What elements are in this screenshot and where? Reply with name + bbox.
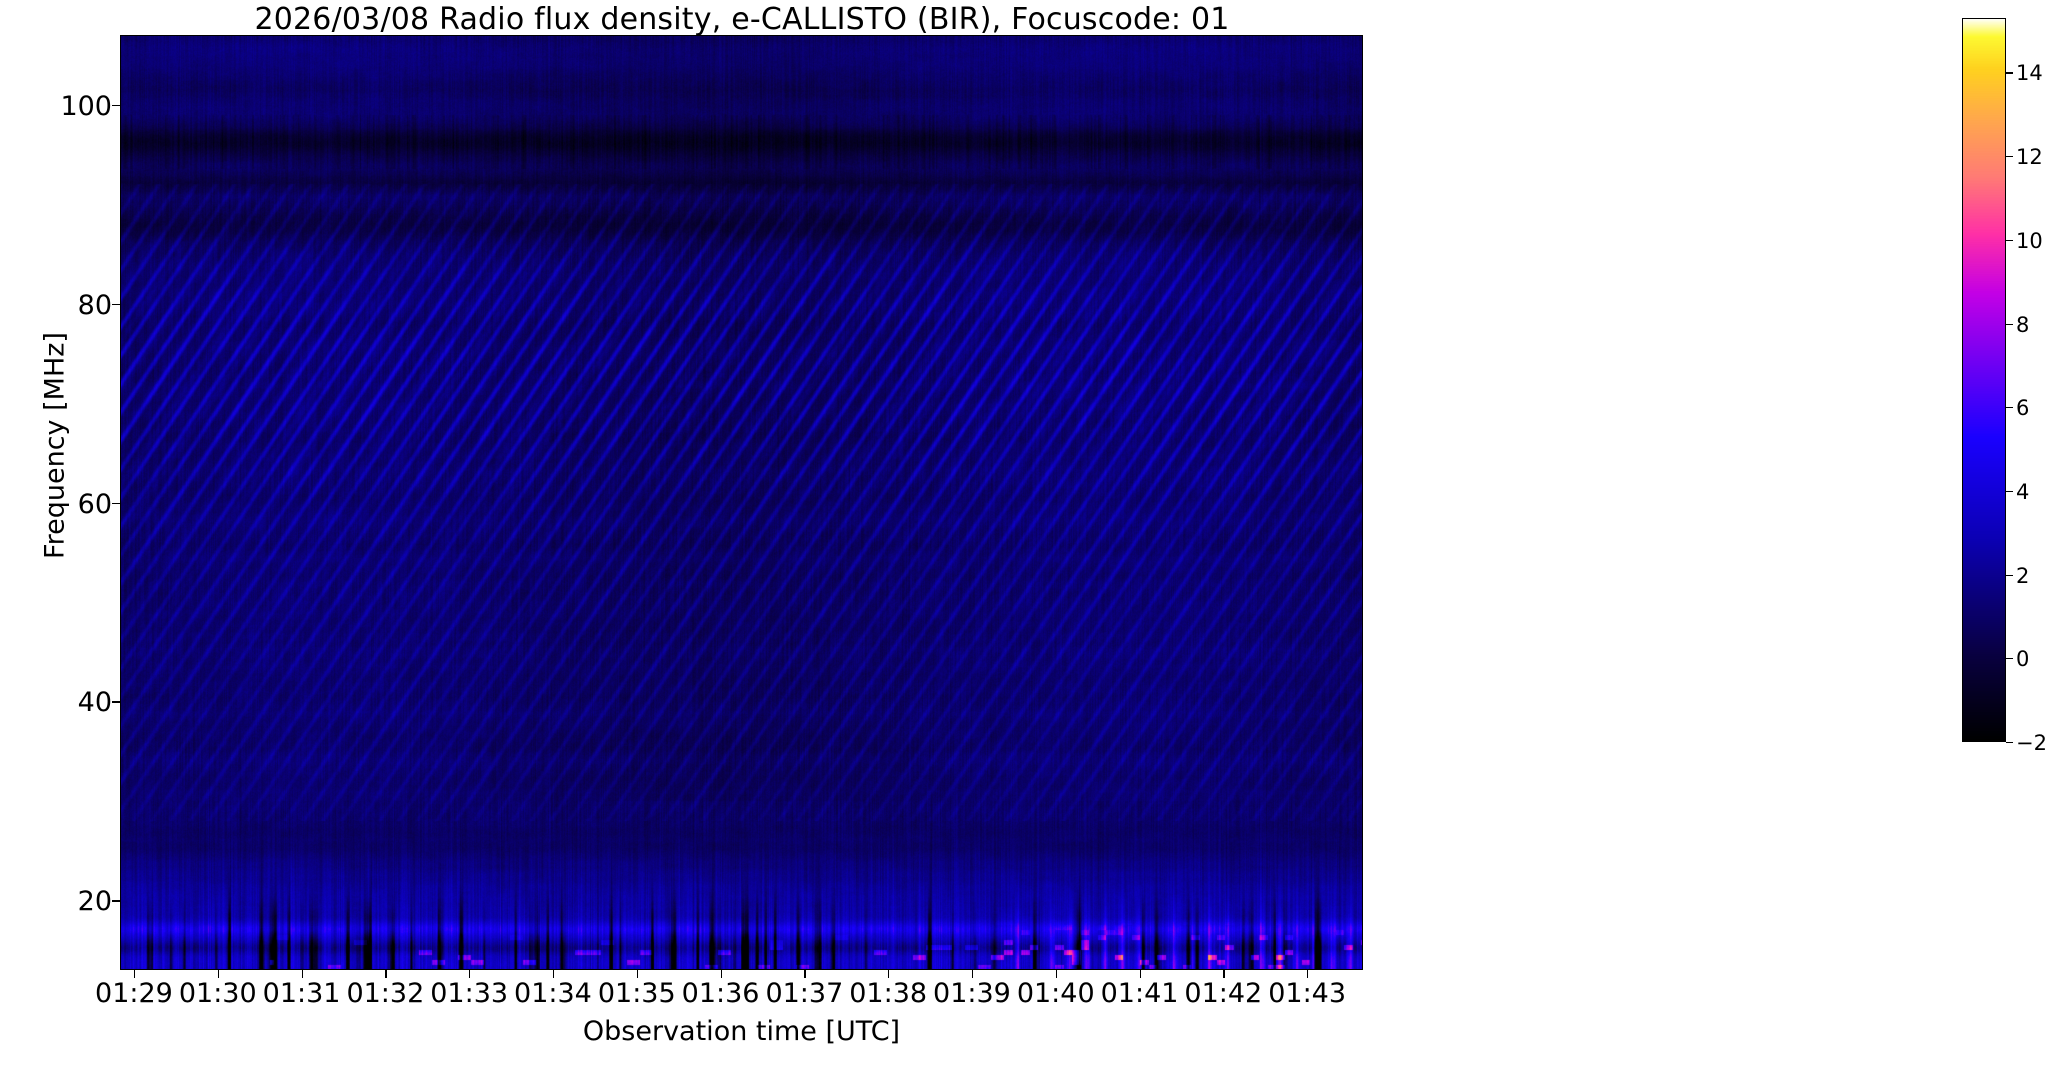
x-tick-label: 01:33 <box>430 978 508 1009</box>
x-axis-ticks: 01:2901:3001:3101:3201:3301:3401:3501:36… <box>0 0 2066 1067</box>
x-tick-mark <box>553 970 554 978</box>
x-tick-mark <box>134 970 135 978</box>
colorbar-tick-label: 10 <box>2016 229 2043 253</box>
colorbar-tick-label: 0 <box>2016 647 2029 671</box>
colorbar-tick-mark <box>2006 658 2013 659</box>
colorbar-tick-mark <box>2006 407 2013 408</box>
colorbar-tick-label: 2 <box>2016 564 2029 588</box>
x-tick-mark <box>721 970 722 978</box>
x-tick-mark <box>888 970 889 978</box>
x-tick-mark <box>637 970 638 978</box>
colorbar-tick-mark <box>2006 240 2013 241</box>
x-tick-mark <box>385 970 386 978</box>
x-tick-label: 01:42 <box>1184 978 1262 1009</box>
colorbar-tick-mark <box>2006 575 2013 576</box>
x-tick-label: 01:43 <box>1268 978 1346 1009</box>
x-tick-mark <box>218 970 219 978</box>
x-tick-label: 01:39 <box>933 978 1011 1009</box>
x-tick-mark <box>1140 970 1141 978</box>
colorbar-gradient <box>1962 18 2006 742</box>
x-tick-mark <box>302 970 303 978</box>
colorbar-tick-mark <box>2006 491 2013 492</box>
x-tick-mark <box>804 970 805 978</box>
figure-root: 2026/03/08 Radio flux density, e-CALLIST… <box>0 0 2066 1067</box>
colorbar-tick-mark <box>2006 742 2013 743</box>
colorbar-tick-label: 8 <box>2016 313 2029 337</box>
colorbar-tick-mark <box>2006 72 2013 73</box>
x-tick-label: 01:41 <box>1101 978 1179 1009</box>
x-tick-mark <box>1056 970 1057 978</box>
x-tick-label: 01:31 <box>263 978 341 1009</box>
x-tick-label: 01:37 <box>765 978 843 1009</box>
x-tick-mark <box>972 970 973 978</box>
x-tick-label: 01:38 <box>849 978 927 1009</box>
x-tick-label: 01:35 <box>598 978 676 1009</box>
colorbar-tick-label: 4 <box>2016 480 2029 504</box>
colorbar-tick-label: 14 <box>2016 61 2043 85</box>
x-tick-label: 01:36 <box>682 978 760 1009</box>
x-tick-mark <box>1307 970 1308 978</box>
x-tick-label: 01:32 <box>346 978 424 1009</box>
x-tick-label: 01:29 <box>95 978 173 1009</box>
colorbar-tick-label: −2 <box>2016 731 2047 755</box>
colorbar-tick-label: 6 <box>2016 396 2029 420</box>
x-tick-mark <box>469 970 470 978</box>
x-tick-label: 01:40 <box>1017 978 1095 1009</box>
x-tick-label: 01:30 <box>179 978 257 1009</box>
colorbar-tick-label: 12 <box>2016 145 2043 169</box>
x-tick-mark <box>1223 970 1224 978</box>
colorbar-tick-mark <box>2006 324 2013 325</box>
x-tick-label: 01:34 <box>514 978 592 1009</box>
colorbar-tick-mark <box>2006 156 2013 157</box>
